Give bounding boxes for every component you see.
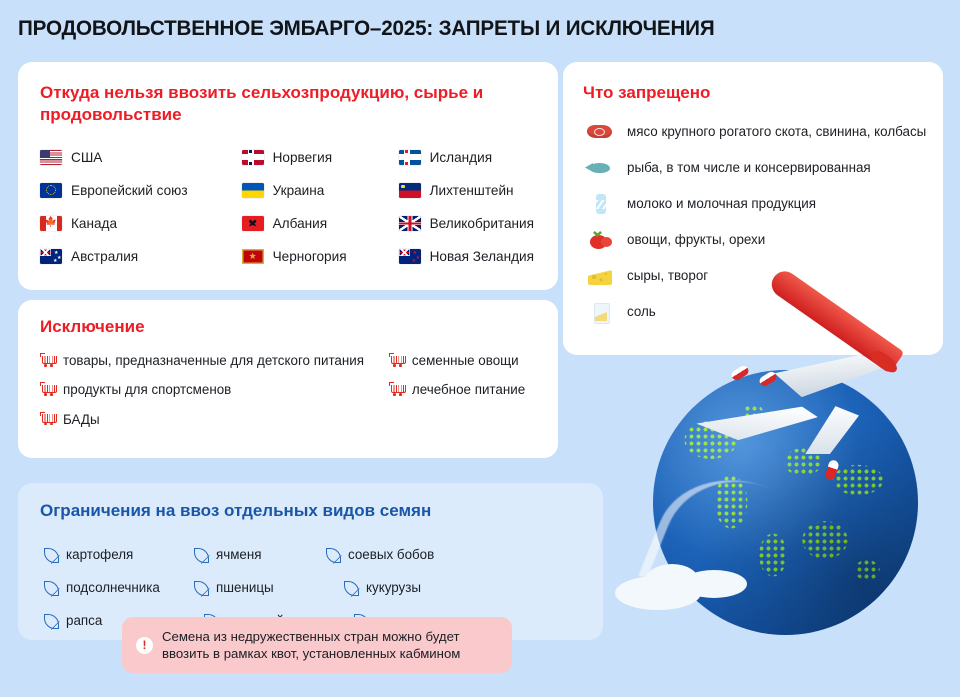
page-title: ПРОДОВОЛЬСТВЕННОЕ ЭМБАРГО–2025: ЗАПРЕТЫ …: [18, 16, 714, 41]
leaf-icon: [192, 579, 209, 596]
seed-label: картофеля: [66, 547, 133, 562]
seed-label: подсолнечника: [66, 580, 160, 595]
country-row[interactable]: 🍁 Канада: [40, 213, 242, 233]
exception-label: БАДы: [63, 411, 100, 428]
banned-item[interactable]: молоко и молочная продукция: [585, 192, 931, 218]
flag-norway-icon: [242, 150, 264, 165]
seed-item[interactable]: ячменя: [192, 538, 324, 571]
exclamation-icon: !: [136, 637, 153, 654]
seed-item[interactable]: соевых бобов: [324, 538, 484, 571]
flag-ukraine-icon: [242, 183, 264, 198]
plane-engine: [758, 370, 779, 388]
flag-australia-icon: ★ ★ ★: [40, 249, 62, 264]
exception-label: товары, предназначенные для детского пит…: [63, 352, 364, 369]
country-label: Норвегия: [273, 150, 332, 165]
leaf-icon: [342, 579, 359, 596]
seed-label: кукурузы: [366, 580, 421, 595]
flag-usa-icon: [40, 150, 62, 165]
shopping-cart-icon: [40, 382, 56, 397]
plane-engine: [824, 459, 840, 481]
banned-item[interactable]: рыба, в том числе и консервированная: [585, 156, 931, 182]
cloud-shape: [681, 570, 747, 598]
country-row[interactable]: Украина: [242, 180, 399, 200]
country-row[interactable]: Норвегия: [242, 147, 399, 167]
seed-label: ячменя: [216, 547, 262, 562]
exceptions-column-2: семенные овощи лечебное питание: [389, 352, 544, 428]
leaf-icon: [42, 579, 59, 596]
country-row[interactable]: США: [40, 147, 242, 167]
leaf-icon: [192, 546, 209, 563]
seed-label: рапса: [66, 613, 102, 628]
banned-item-label: соль: [627, 300, 656, 320]
country-label: Украина: [273, 183, 325, 198]
banned-item-label: молоко и молочная продукция: [627, 192, 816, 212]
country-row[interactable]: ★ ★ ★ Новая Зеландия: [399, 246, 544, 266]
meat-icon: [585, 120, 615, 144]
exception-item[interactable]: семенные овощи: [389, 352, 544, 369]
airplane-icon: [675, 340, 905, 520]
country-label: Черногория: [273, 249, 347, 264]
exception-item[interactable]: товары, предназначенные для детского пит…: [40, 352, 389, 369]
flag-canada-icon: 🍁: [40, 216, 62, 231]
banned-item[interactable]: сыры, творог: [585, 264, 931, 290]
banned-item[interactable]: соль: [585, 300, 931, 326]
leaf-icon: [42, 612, 59, 629]
exceptions-heading: Исключение: [40, 316, 145, 338]
country-label: Европейский союз: [71, 183, 188, 198]
quota-note-box: ! Семена из недружественных стран можно …: [122, 617, 512, 673]
fish-icon: [585, 156, 615, 180]
origin-countries-card: Откуда нельзя ввозить сельхозпродукцию, …: [18, 62, 558, 290]
country-label: США: [71, 150, 102, 165]
banned-item-label: мясо крупного рогатого скота, свинина, к…: [627, 120, 926, 140]
milk-bottle-icon: [585, 192, 615, 216]
quota-note-text: Семена из недружественных стран можно бу…: [162, 628, 498, 663]
flag-albania-icon: [242, 216, 264, 231]
country-label: Албания: [273, 216, 328, 231]
flag-new-zealand-icon: ★ ★ ★: [399, 249, 421, 264]
exceptions-card: Исключение товары, предназначенные для д…: [18, 300, 558, 458]
leaf-icon: [42, 546, 59, 563]
seed-label: пшеницы: [216, 580, 274, 595]
country-row[interactable]: Лихтенштейн: [399, 180, 544, 200]
flag-montenegro-icon: [242, 249, 264, 264]
globe-with-airplane-illustration: [615, 340, 960, 697]
exception-label: лечебное питание: [412, 381, 525, 398]
exception-item[interactable]: лечебное питание: [389, 381, 544, 398]
plane-main-wing: [695, 396, 819, 448]
banned-item-label: сыры, творог: [627, 264, 708, 284]
country-label: Исландия: [430, 150, 492, 165]
seeds-heading: Ограничения на ввоз отдельных видов семя…: [40, 501, 431, 521]
flag-uk-icon: [399, 216, 421, 231]
exception-label: семенные овощи: [412, 352, 519, 369]
country-row[interactable]: Исландия: [399, 147, 544, 167]
country-row[interactable]: Великобритания: [399, 213, 544, 233]
banned-item[interactable]: мясо крупного рогатого скота, свинина, к…: [585, 120, 931, 146]
origin-column-3: Исландия Лихтенштейн Великобритания ★ ★ …: [399, 147, 544, 266]
banned-products-list: мясо крупного рогатого скота, свинина, к…: [585, 120, 931, 326]
shopping-cart-icon: [389, 353, 405, 368]
exceptions-column-1: товары, предназначенные для детского пит…: [40, 352, 389, 428]
banned-heading: Что запрещено: [583, 82, 710, 104]
country-label: Лихтенштейн: [430, 183, 514, 198]
seed-item[interactable]: подсолнечника: [42, 571, 192, 604]
origin-heading: Откуда нельзя ввозить сельхозпродукцию, …: [40, 82, 558, 127]
flag-iceland-icon: [399, 150, 421, 165]
origin-column-2: Норвегия Украина Албания Черногория: [242, 147, 399, 266]
country-label: Австралия: [71, 249, 138, 264]
country-row[interactable]: ★ ★ ★ Австралия: [40, 246, 242, 266]
country-label: Канада: [71, 216, 117, 231]
flag-liechtenstein-icon: [399, 183, 421, 198]
exception-label: продукты для спортсменов: [63, 381, 231, 398]
origin-country-columns: США Европейский союз 🍁 Канада ★ ★ ★ Авст…: [40, 147, 544, 266]
seed-item[interactable]: кукурузы: [342, 571, 474, 604]
exception-item[interactable]: БАДы: [40, 411, 389, 428]
cheese-icon: [585, 264, 615, 288]
country-label: Великобритания: [430, 216, 534, 231]
seed-item[interactable]: пшеницы: [192, 571, 342, 604]
seed-item[interactable]: картофеля: [42, 538, 192, 571]
country-row[interactable]: Европейский союз: [40, 180, 242, 200]
shopping-cart-icon: [40, 353, 56, 368]
plane-tail: [803, 402, 859, 454]
country-label: Новая Зеландия: [430, 249, 534, 264]
banned-item-label: овощи, фрукты, орехи: [627, 228, 765, 248]
country-row[interactable]: Албания: [242, 213, 399, 233]
origin-column-1: США Европейский союз 🍁 Канада ★ ★ ★ Авст…: [40, 147, 242, 266]
banned-products-card: Что запрещено мясо крупного рогатого ско…: [563, 62, 943, 355]
banned-item[interactable]: овощи, фрукты, орехи: [585, 228, 931, 254]
banned-item-label: рыба, в том числе и консервированная: [627, 156, 871, 176]
shopping-cart-icon: [40, 412, 56, 427]
flag-eu-icon: [40, 183, 62, 198]
tomato-icon: [585, 228, 615, 252]
leaf-icon: [324, 546, 341, 563]
shopping-cart-icon: [389, 382, 405, 397]
exception-item[interactable]: продукты для спортсменов: [40, 381, 389, 398]
exceptions-columns: товары, предназначенные для детского пит…: [40, 352, 544, 428]
seed-label: соевых бобов: [348, 547, 434, 562]
country-row[interactable]: Черногория: [242, 246, 399, 266]
plane-engine: [730, 364, 751, 382]
salt-icon: [585, 300, 615, 324]
